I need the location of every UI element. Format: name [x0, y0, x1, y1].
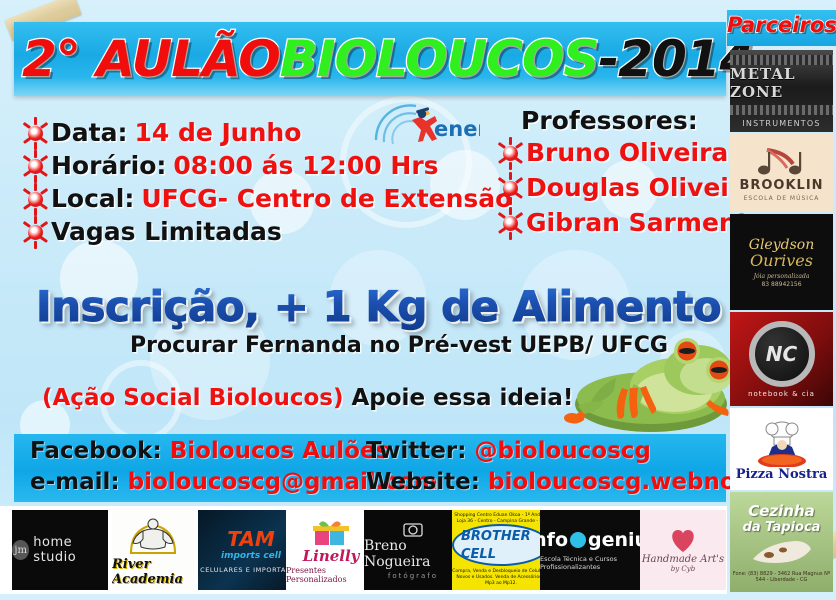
- partners-rail: Parceiros: METAL ZONE INSTRUMENTOS BROOK…: [727, 0, 836, 600]
- molecule-icon: [497, 140, 523, 166]
- professors-heading: Professores:: [521, 106, 747, 135]
- partner-tagline: Fone: (83) 8829 - 3462 Rua Magnus Nº 544…: [730, 571, 833, 583]
- sponsor-logo-breno-nogueira[interactable]: Breno Nogueira fotógrafo: [364, 510, 462, 590]
- professor-row: Gibran Sarmento: [497, 205, 747, 240]
- genius-dot-icon: [570, 532, 586, 548]
- info-value: 08:00 ás 12:00 Hrs: [173, 151, 438, 180]
- molecule-icon: [22, 120, 48, 146]
- title-part-1: 2° AULÃO: [22, 34, 280, 84]
- partner-logo-gleydson-ourives[interactable]: Gleydson Ourives Jóia personalizada 83 8…: [730, 214, 833, 310]
- svg-text:enem: enem: [434, 117, 480, 141]
- home-studio-mark: jm: [12, 540, 29, 560]
- professor-name: Douglas Oliveira: [526, 173, 758, 202]
- sponsor-tagline: Presentes Personalizados: [286, 566, 376, 584]
- partner-tagline: INSTRUMENTOS: [742, 119, 820, 128]
- info-label: Local:: [51, 184, 134, 213]
- info-row-vagas: Vagas Limitadas: [22, 215, 492, 248]
- camera-icon: [402, 520, 424, 538]
- social-action-black: Apoie essa ideia!: [343, 385, 573, 411]
- website-label: Website:: [366, 469, 480, 495]
- professors-block: Professores: Bruno Oliveira Douglas Oliv…: [497, 106, 747, 240]
- sponsor-logo-river-academia[interactable]: River Academia: [112, 510, 194, 590]
- professor-name: Bruno Oliveira: [526, 138, 728, 167]
- professor-row: Bruno Oliveira: [497, 135, 747, 170]
- page-title: 2° AULÃO BIOLOUCOS -2014: [22, 24, 728, 94]
- heart-icon: [666, 528, 700, 554]
- facebook-label: Facebook:: [30, 438, 162, 464]
- brother-cell-address: Shopping Centro Eduan Okoa - 1º Andar - …: [452, 513, 550, 524]
- professor-row: Douglas Oliveira: [497, 170, 747, 205]
- metal-zone-bars: [730, 55, 833, 65]
- info-label: Data:: [51, 118, 127, 147]
- sponsor-name: TAM: [227, 527, 274, 551]
- sponsor-tagline: fotógrafo: [388, 572, 438, 580]
- sponsor-name-2: genius: [588, 529, 646, 551]
- partner-logo-cezinha-tapioca[interactable]: Cezinha da Tapioca Fone: (83) 8829 - 346…: [730, 492, 833, 592]
- sponsor-logo-linelly[interactable]: Linelly Presentes Personalizados: [286, 510, 376, 590]
- poster-canvas: 2° AULÃO BIOLOUCOS -2014 Data: 14 de Jun…: [0, 0, 836, 600]
- sponsor-name: River Academia: [112, 557, 194, 587]
- enem-logo: enem: [368, 100, 480, 152]
- partner-tagline: notebook & cia: [748, 390, 815, 398]
- title-part-2: BIOLOUCOS: [280, 34, 599, 84]
- info-row-horario: Horário: 08:00 ás 12:00 Hrs: [22, 149, 492, 182]
- molecule-icon: [22, 219, 48, 245]
- twitter-label: Twitter:: [366, 438, 466, 464]
- info-value: UFCG- Centro de Extensão: [141, 184, 512, 213]
- molecule-icon: [497, 175, 523, 201]
- contact-band: Facebook: Bioloucos Aulões Twitter: @bio…: [14, 434, 726, 502]
- twitter-value: @bioloucoscg: [474, 438, 650, 464]
- tree-frog-illustration: [556, 318, 746, 450]
- sponsor-logo-brother-cell[interactable]: Shopping Centro Eduan Okoa - 1º Andar - …: [452, 510, 550, 590]
- sponsor-name: Handmade Art's: [642, 554, 724, 565]
- partner-tagline: Jóia personalizada: [754, 273, 810, 280]
- sponsor-logo-info-genius[interactable]: info genius Escola Técnica e Cursos Prof…: [540, 510, 646, 590]
- partner-name-2: Ourives: [750, 251, 813, 270]
- social-action-red: (Ação Social Bioloucos): [42, 385, 343, 411]
- sponsor-logo-home-studio[interactable]: jm home studio: [12, 510, 108, 590]
- facebook-value: Bioloucos Aulões: [170, 438, 390, 464]
- nc-ring-icon: NC: [749, 321, 815, 387]
- email-label: e-mail:: [30, 469, 120, 495]
- molecule-icon: [22, 186, 48, 212]
- sponsor-tagline: by Cyb: [671, 565, 695, 573]
- sponsor-name: Linelly: [303, 547, 360, 565]
- partner-logo-pizza-nostra[interactable]: Pizza Nostra: [730, 408, 833, 490]
- partner-logo-metal-zone[interactable]: METAL ZONE INSTRUMENTOS: [730, 50, 833, 132]
- tapioca-icon: [747, 535, 817, 567]
- partner-name: METAL ZONE: [730, 65, 833, 101]
- info-row-local: Local: UFCG- Centro de Extensão: [22, 182, 492, 215]
- partner-name: BROOKLIN: [739, 178, 823, 193]
- sponsor-tagline: Escola Técnica e Cursos Profissionalizan…: [540, 555, 646, 571]
- sponsor-logo-handmade-arts[interactable]: Handmade Art's by Cyb: [640, 510, 726, 590]
- twitter-line[interactable]: Twitter: @bioloucoscg: [366, 438, 651, 464]
- partner-name: Pizza Nostra: [736, 467, 828, 482]
- partner-phone: 83 88942156: [761, 281, 801, 288]
- partner-name-2: da Tapioca: [743, 520, 821, 535]
- partner-logo-brooklin[interactable]: BROOKLIN ESCOLA DE MÚSICA: [730, 134, 833, 212]
- sponsor-subname: imports cell: [221, 551, 281, 561]
- bodybuilder-icon: [127, 513, 179, 557]
- molecule-icon: [22, 153, 48, 179]
- sponsor-strip: jm home studio River Academia TAM import…: [0, 506, 727, 594]
- partner-name: Cezinha: [748, 502, 815, 520]
- sponsor-name: Breno Nogueira: [364, 538, 462, 570]
- partner-logo-notebook-cia[interactable]: NC notebook & cia: [730, 312, 833, 406]
- gift-box-icon: [309, 517, 353, 547]
- molecule-icon: [497, 210, 523, 236]
- sponsor-name: BROTHER CELL: [461, 529, 531, 562]
- partner-tagline: ESCOLA DE MÚSICA: [744, 195, 820, 202]
- info-label: Horário:: [51, 151, 166, 180]
- metal-zone-bars: [730, 105, 833, 115]
- sponsor-name: home studio: [33, 535, 108, 565]
- social-action-line: (Ação Social Bioloucos) Apoie essa ideia…: [42, 385, 573, 411]
- sponsor-tagline: Compra, Venda e Desbloqueio de Celulares…: [452, 569, 550, 587]
- info-value: 14 de Junho: [134, 118, 301, 147]
- partner-name: NC: [766, 342, 797, 366]
- partners-heading: Parceiros:: [727, 13, 836, 37]
- facebook-line[interactable]: Facebook: Bioloucos Aulões: [30, 438, 389, 464]
- sponsor-name: info: [540, 529, 568, 551]
- info-label: Vagas Limitadas: [51, 217, 282, 246]
- music-note-icon: [753, 144, 811, 178]
- brother-cell-oval: BROTHER CELL: [452, 524, 550, 566]
- pizza-chef-icon: [750, 417, 814, 467]
